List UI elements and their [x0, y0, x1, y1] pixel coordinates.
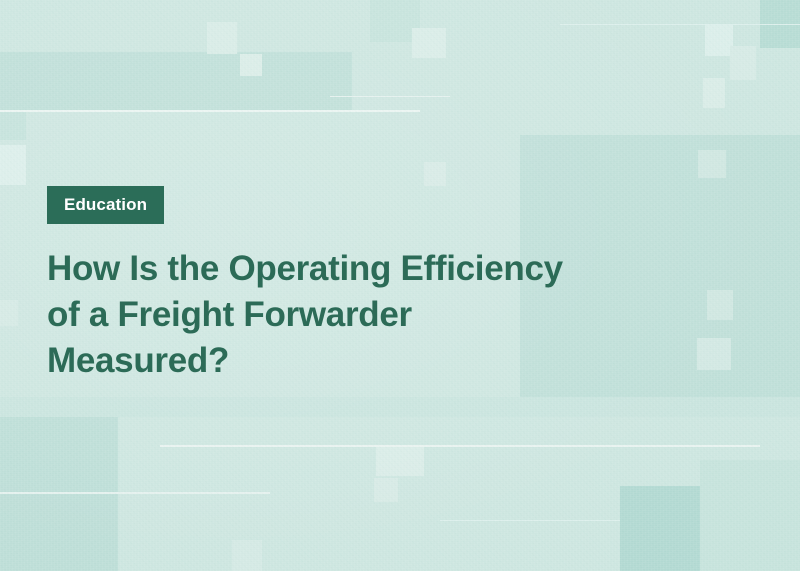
square-top-right-b [730, 46, 756, 80]
hairline-mid [160, 445, 760, 447]
square-mid-right-b [707, 290, 733, 320]
hairline-top [0, 110, 420, 112]
square-top-mid-a [207, 22, 237, 54]
square-mid-right-a [698, 150, 726, 178]
square-top-right-c [703, 78, 725, 108]
square-bottom-left [232, 540, 262, 571]
square-mid-right-c [697, 338, 731, 370]
square-mid-center [424, 162, 446, 186]
band-mid-lower [0, 397, 800, 417]
square-top-left [0, 145, 26, 185]
square-top-center [412, 28, 446, 58]
page-title: How Is the Operating Efficiency of a Fre… [47, 246, 607, 385]
article-hero-card: Education How Is the Operating Efficienc… [0, 0, 800, 571]
band-top-right [760, 0, 800, 48]
hero-content: Education How Is the Operating Efficienc… [47, 186, 687, 385]
category-badge[interactable]: Education [47, 186, 164, 224]
square-bottom-center-a [376, 446, 424, 476]
hairline-top-right [560, 24, 800, 25]
square-top-right-a [705, 24, 733, 56]
square-left-low [0, 300, 18, 326]
square-bottom-center-b [374, 478, 398, 502]
square-top-mid-b [240, 54, 262, 76]
band-lower-left [0, 415, 118, 571]
hairline-bottom-right [440, 520, 620, 521]
band-upper-left [0, 52, 352, 110]
hairline-lower [0, 492, 270, 494]
band-far-left [0, 110, 26, 140]
hairline-upper [330, 96, 450, 97]
band-bottom-right-wide [700, 460, 800, 571]
band-upper-middle [370, 0, 420, 42]
band-bottom-right-block [620, 486, 700, 571]
